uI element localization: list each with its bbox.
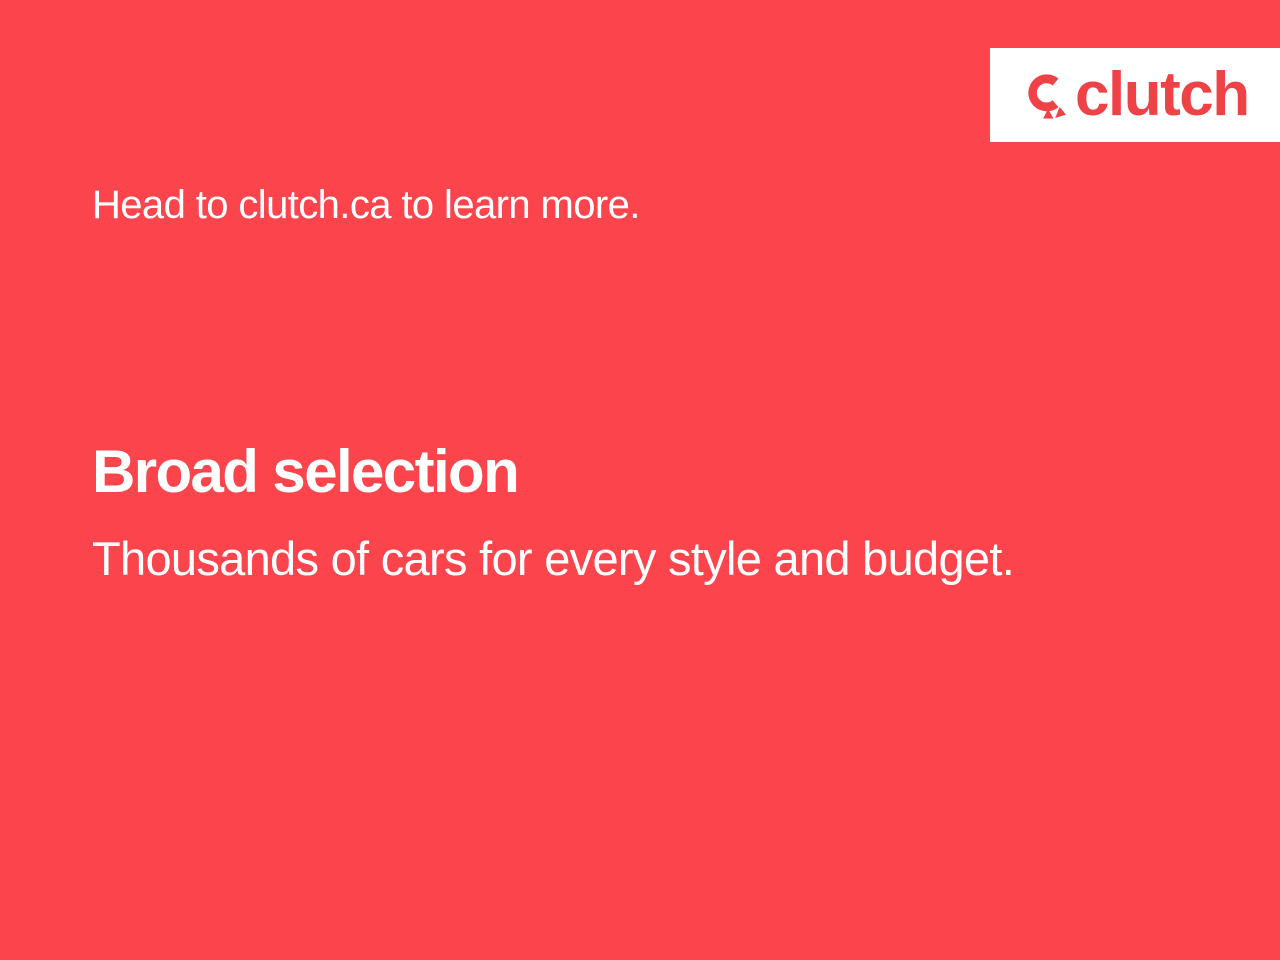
clutch-c-mark-icon — [1024, 69, 1070, 121]
copy-block: Broad selection Thousands of cars for ev… — [92, 440, 1092, 591]
brand-lockup: clutch — [1024, 64, 1249, 126]
promo-slide: clutch Head to clutch.ca to learn more. … — [0, 0, 1280, 960]
brand-wordmark: clutch — [1075, 64, 1249, 126]
headline: Broad selection — [92, 440, 1092, 505]
subheadline: Thousands of cars for every style and bu… — [92, 527, 1022, 591]
brand-logo-plate[interactable]: clutch — [990, 48, 1280, 142]
eyebrow-text: Head to clutch.ca to learn more. — [92, 182, 640, 228]
